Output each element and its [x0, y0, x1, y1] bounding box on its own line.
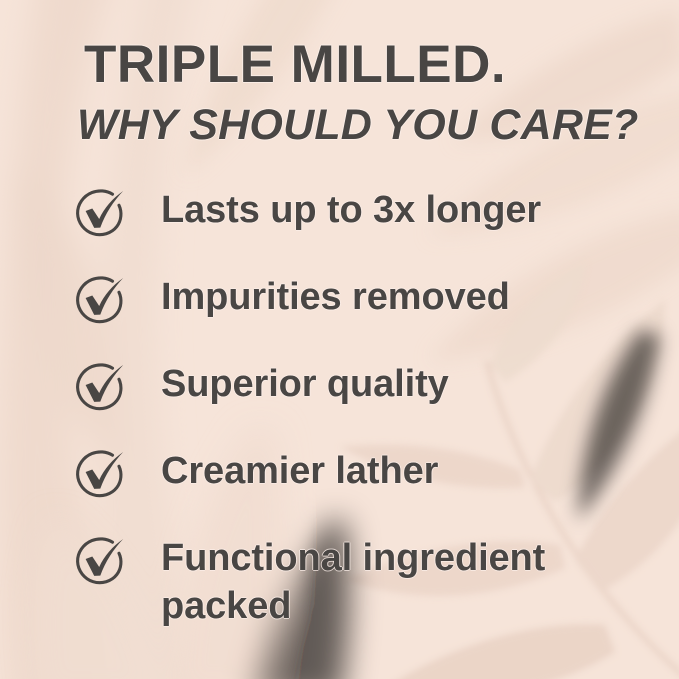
list-item: Lasts up to 3x longer	[0, 186, 679, 273]
triple-milled-benefits-poster: TRIPLE MILLED. WHY SHOULD YOU CARE? Last…	[0, 0, 679, 679]
circle-check-icon	[72, 362, 128, 414]
circle-check-icon	[72, 188, 128, 240]
poster-content: TRIPLE MILLED. WHY SHOULD YOU CARE? Last…	[0, 0, 679, 679]
circle-check-icon	[72, 449, 128, 501]
list-item-label: Creamier lather	[161, 447, 661, 495]
circle-check-icon	[72, 536, 128, 588]
list-item-label: Lasts up to 3x longer	[161, 186, 661, 234]
circle-check-icon	[72, 275, 128, 327]
list-item: Superior quality	[0, 360, 679, 447]
list-item: Creamier lather	[0, 447, 679, 534]
list-item: Functional ingredient packed	[0, 534, 679, 621]
list-item-label: Superior quality	[161, 360, 661, 408]
list-item-label: Impurities removed	[161, 273, 661, 321]
page-title: TRIPLE MILLED.	[84, 38, 506, 91]
list-item: Impurities removed	[0, 273, 679, 360]
list-item-label: Functional ingredient packed	[161, 534, 661, 630]
benefits-list: Lasts up to 3x longer Impurities removed…	[0, 186, 679, 621]
page-subtitle: WHY SHOULD YOU CARE?	[77, 104, 638, 147]
